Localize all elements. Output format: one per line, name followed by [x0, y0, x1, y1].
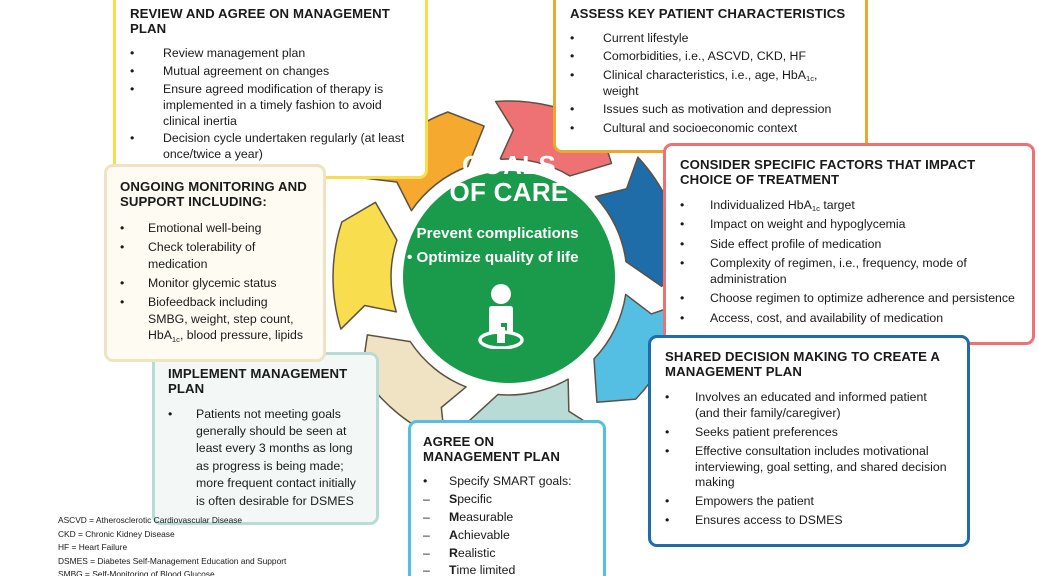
- list-item: •Cultural and socioeconomic context: [570, 121, 851, 137]
- list-item-label: Cultural and socioeconomic context: [603, 121, 851, 137]
- smart-initial: A: [449, 528, 458, 542]
- list-item: •Complexity of regimen, i.e., frequency,…: [680, 256, 1018, 288]
- card-consider-title: CONSIDER SPECIFIC FACTORS THAT IMPACT CH…: [680, 158, 1018, 188]
- bullet-icon: •: [680, 217, 684, 233]
- card-ongoing-title: ONGOING MONITORING AND SUPPORT INCLUDING…: [120, 180, 310, 210]
- bullet-icon: •: [680, 291, 684, 307]
- card-ongoing-list: •Emotional well-being •Check tolerabilit…: [120, 220, 310, 344]
- bullet-icon: •: [130, 64, 134, 80]
- list-item: •Patients not meeting goals generally sh…: [168, 406, 363, 511]
- bullet-icon: •: [423, 474, 427, 490]
- smart-initial: S: [449, 492, 457, 506]
- bullet-icon: •: [680, 256, 684, 272]
- smart-rest: pecific: [457, 492, 492, 506]
- list-item-label: Side effect profile of medication: [710, 237, 1018, 253]
- smart-rest: easurable: [459, 510, 513, 524]
- list-item-label: Issues such as motivation and depression: [603, 102, 851, 118]
- list-item-label: Monitor glycemic status: [148, 275, 310, 291]
- smart-rest: chievable: [458, 528, 510, 542]
- list-item-label: Involves an educated and informed patien…: [695, 390, 953, 422]
- bullet-icon: •: [665, 390, 669, 406]
- list-item: •Choose regimen to optimize adherence an…: [680, 291, 1018, 307]
- footnote-smbg: SMBG = Self-Monitoring of Blood Glucose: [58, 568, 286, 576]
- bullet-icon: •: [130, 46, 134, 62]
- card-assess-key-patient-characteristics[interactable]: ASSESS KEY PATIENT CHARACTERISTICS •Curr…: [553, 0, 868, 153]
- list-item: •Monitor glycemic status: [120, 275, 310, 291]
- bullet-icon: •: [680, 237, 684, 253]
- abbreviation-legend: ASCVD = Atherosclerotic Cardiovascular D…: [58, 514, 286, 576]
- list-item-label: Individualized HbA1c target: [710, 198, 1018, 214]
- list-item: •Check tolerability of medication: [120, 239, 310, 272]
- card-consider-specific-factors[interactable]: CONSIDER SPECIFIC FACTORS THAT IMPACT CH…: [663, 143, 1035, 345]
- card-agree-list: •Specify SMART goals:: [423, 474, 591, 490]
- card-ongoing-monitoring[interactable]: ONGOING MONITORING AND SUPPORT INCLUDING…: [104, 164, 326, 362]
- bullet-icon: •: [130, 131, 134, 147]
- smart-initial: M: [449, 510, 459, 524]
- list-item-label: Seeks patient preferences: [695, 425, 953, 441]
- list-item: •Mutual agreement on changes: [130, 64, 411, 80]
- list-item: •Emotional well-being: [120, 220, 310, 236]
- bullet-icon: •: [120, 294, 124, 310]
- card-shared-title-line1: SHARED DECISION MAKING TO CREATE A: [665, 350, 953, 365]
- bullet-icon: •: [120, 220, 124, 236]
- list-item: •Ensures access to DSMES: [665, 513, 953, 529]
- list-item: –Measurable: [423, 510, 591, 526]
- goals-of-care-circle: [403, 171, 615, 383]
- list-item: •Clinical characteristics, i.e., age, Hb…: [570, 68, 851, 100]
- bullet-icon: •: [570, 102, 574, 118]
- smart-rest: ealistic: [458, 546, 496, 560]
- card-agree-on-management-plan[interactable]: AGREE ON MANAGEMENT PLAN •Specify SMART …: [408, 420, 606, 576]
- list-item-label: Realistic: [449, 546, 591, 562]
- list-item-label: Empowers the patient: [695, 494, 953, 510]
- bullet-icon: •: [680, 198, 684, 214]
- list-item: •Specify SMART goals:: [423, 474, 591, 490]
- list-item-label: Emotional well-being: [148, 220, 310, 236]
- smart-rest: ime limited: [457, 563, 516, 576]
- bullet-icon: •: [570, 68, 574, 84]
- list-item: •Individualized HbA1c target: [680, 198, 1018, 214]
- card-review-and-agree[interactable]: REVIEW AND AGREE ON MANAGEMENT PLAN •Rev…: [113, 0, 428, 179]
- list-item-label: Complexity of regimen, i.e., frequency, …: [710, 256, 1018, 288]
- list-item: •Comorbidities, i.e., ASCVD, CKD, HF: [570, 49, 851, 65]
- list-item: •Biofeedback including SMBG, weight, ste…: [120, 294, 310, 343]
- dash-icon: –: [423, 563, 430, 576]
- dash-icon: –: [423, 492, 430, 508]
- list-item: •Side effect profile of medication: [680, 237, 1018, 253]
- list-item: •Empowers the patient: [665, 494, 953, 510]
- list-item-label: Decision cycle undertaken regularly (at …: [163, 131, 411, 163]
- list-item-label: Patients not meeting goals generally sho…: [196, 406, 363, 511]
- card-consider-title-line1: CONSIDER SPECIFIC FACTORS THAT IMPACT: [680, 158, 1018, 173]
- list-item: •Review management plan: [130, 46, 411, 62]
- list-item: •Involves an educated and informed patie…: [665, 390, 953, 422]
- bullet-icon: •: [665, 425, 669, 441]
- list-item-label: Ensures access to DSMES: [695, 513, 953, 529]
- card-review-list: •Review management plan •Mutual agreemen…: [130, 46, 411, 164]
- list-item-label: Current lifestyle: [603, 31, 851, 47]
- list-item: •Effective consultation includes motivat…: [665, 444, 953, 492]
- dash-icon: –: [423, 546, 430, 562]
- card-shared-decision-making[interactable]: SHARED DECISION MAKING TO CREATE A MANAG…: [648, 335, 970, 547]
- bullet-icon: •: [120, 239, 124, 255]
- card-agree-title: AGREE ON MANAGEMENT PLAN: [423, 435, 591, 465]
- bullet-icon: •: [570, 31, 574, 47]
- dash-icon: –: [423, 528, 430, 544]
- footnote-ascvd: ASCVD = Atherosclerotic Cardiovascular D…: [58, 514, 286, 528]
- list-item: –Specific: [423, 492, 591, 508]
- list-item-label: Specify SMART goals:: [449, 474, 591, 490]
- list-item-label: Ensure agreed modification of therapy is…: [163, 82, 411, 130]
- diagram-canvas: GOALS OF CARE • Prevent complications • …: [0, 0, 1038, 576]
- list-item-label: Access, cost, and availability of medica…: [710, 311, 1018, 327]
- review-segment: [333, 202, 397, 329]
- list-item-label: Biofeedback including SMBG, weight, step…: [148, 294, 310, 343]
- card-ongoing-title-line2: SUPPORT INCLUDING:: [120, 195, 310, 210]
- bullet-icon: •: [665, 444, 669, 460]
- card-shared-list: •Involves an educated and informed patie…: [665, 390, 953, 530]
- list-item: •Access, cost, and availability of medic…: [680, 311, 1018, 327]
- card-assess-title: ASSESS KEY PATIENT CHARACTERISTICS: [570, 7, 851, 22]
- bullet-icon: •: [130, 82, 134, 98]
- bullet-icon: •: [680, 311, 684, 327]
- dash-icon: –: [423, 510, 430, 526]
- card-ongoing-title-line1: ONGOING MONITORING AND: [120, 180, 310, 195]
- card-implement-list: •Patients not meeting goals generally sh…: [168, 406, 363, 511]
- bullet-icon: •: [570, 49, 574, 65]
- bullet-icon: •: [168, 406, 172, 423]
- list-item: •Current lifestyle: [570, 31, 851, 47]
- card-assess-list: •Current lifestyle •Comorbidities, i.e.,…: [570, 31, 851, 137]
- list-item-label: Check tolerability of medication: [148, 239, 310, 272]
- list-item-label: Achievable: [449, 528, 591, 544]
- list-item: •Ensure agreed modification of therapy i…: [130, 82, 411, 130]
- footnote-ckd: CKD = Chronic Kidney Disease: [58, 528, 286, 542]
- list-item-label: Specific: [449, 492, 591, 508]
- list-item: •Seeks patient preferences: [665, 425, 953, 441]
- list-item-label: Mutual agreement on changes: [163, 64, 411, 80]
- card-shared-title: SHARED DECISION MAKING TO CREATE A MANAG…: [665, 350, 953, 380]
- smart-initial: R: [449, 546, 458, 560]
- card-consider-title-line2: CHOICE OF TREATMENT: [680, 173, 1018, 188]
- list-item: –Realistic: [423, 546, 591, 562]
- card-review-title: REVIEW AND AGREE ON MANAGEMENT PLAN: [130, 7, 411, 37]
- list-item: –Time limited: [423, 563, 591, 576]
- bullet-icon: •: [120, 275, 124, 291]
- card-agree-smart-list: –Specific –Measurable –Achievable –Reali…: [423, 492, 591, 576]
- bullet-icon: •: [570, 121, 574, 137]
- smart-initial: T: [449, 563, 457, 576]
- list-item-label: Clinical characteristics, i.e., age, HbA…: [603, 68, 851, 100]
- card-consider-list: •Individualized HbA1c target •Impact on …: [680, 198, 1018, 327]
- card-shared-title-line2: MANAGEMENT PLAN: [665, 365, 953, 380]
- list-item-label: Impact on weight and hypoglycemia: [710, 217, 1018, 233]
- list-item-label: Measurable: [449, 510, 591, 526]
- person-icon: [473, 283, 529, 349]
- list-item: •Decision cycle undertaken regularly (at…: [130, 131, 411, 163]
- bullet-icon: •: [665, 513, 669, 529]
- list-item-label: Time limited: [449, 563, 591, 576]
- footnote-hf: HF = Heart Failure: [58, 541, 286, 555]
- list-item: •Impact on weight and hypoglycemia: [680, 217, 1018, 233]
- list-item-label: Choose regimen to optimize adherence and…: [710, 291, 1018, 307]
- card-implement-title: IMPLEMENT MANAGEMENT PLAN: [168, 367, 363, 397]
- footnote-dsmes: DSMES = Diabetes Self-Management Educati…: [58, 555, 286, 569]
- list-item-label: Effective consultation includes motivati…: [695, 444, 953, 492]
- list-item-label: Review management plan: [163, 46, 411, 62]
- list-item: •Issues such as motivation and depressio…: [570, 102, 851, 118]
- card-implement-management-plan[interactable]: IMPLEMENT MANAGEMENT PLAN •Patients not …: [152, 352, 379, 525]
- bullet-icon: •: [665, 494, 669, 510]
- list-item-label: Comorbidities, i.e., ASCVD, CKD, HF: [603, 49, 851, 65]
- list-item: –Achievable: [423, 528, 591, 544]
